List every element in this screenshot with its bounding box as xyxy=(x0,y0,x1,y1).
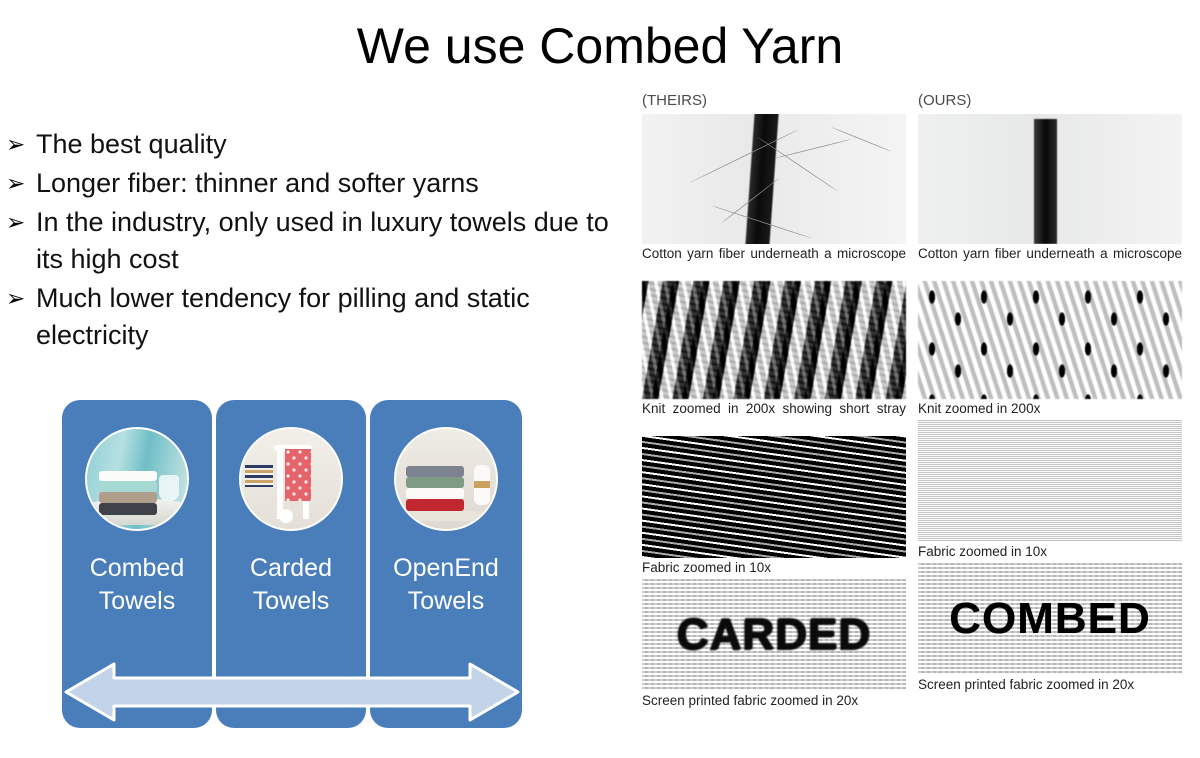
comparison-cell: Knit zoomed in 200x xyxy=(918,281,1182,420)
card-carded-towels[interactable]: Carded Towels xyxy=(216,400,366,728)
printed-word: COMBED xyxy=(949,594,1151,644)
printed-word: CARDED xyxy=(677,610,871,660)
comparison-cell: Knit zoomed in 200x showing short stray xyxy=(642,281,906,436)
list-item-label: The best quality xyxy=(36,126,618,163)
comparison-rows: Cotton yarn fiber underneath a microscop… xyxy=(640,114,1188,754)
card-label: OpenEnd Towels xyxy=(370,552,522,618)
comparison-cell: Cotton yarn fiber underneath a microscop… xyxy=(642,114,906,281)
list-item: ➢ The best quality xyxy=(6,126,618,163)
list-item-label: Much lower tendency for pilling and stat… xyxy=(36,280,618,354)
comparison-column-theirs: Cotton yarn fiber underneath a microscop… xyxy=(642,114,906,712)
comparison-grid: (THEIRS) (OURS) Cotton yarn fiber u xyxy=(640,92,1188,754)
benefits-list: ➢ The best quality ➢ Longer fiber: thinn… xyxy=(6,126,618,356)
comparison-cell: Cotton yarn fiber underneath a microscop… xyxy=(918,114,1182,281)
card-label: Carded Towels xyxy=(216,552,366,618)
comparison-column-ours: Cotton yarn fiber underneath a microscop… xyxy=(918,114,1182,696)
fabric-10x-theirs-image xyxy=(642,436,906,558)
caption: Knit zoomed in 200x xyxy=(918,399,1182,420)
card-combed-towels[interactable]: Combed Towels xyxy=(62,400,212,728)
comparison-column-headings: (THEIRS) (OURS) xyxy=(640,92,1188,114)
caption: Screen printed fabric zoomed in 20x xyxy=(642,691,906,712)
caption: Screen printed fabric zoomed in 20x xyxy=(918,675,1182,696)
column-heading-ours: (OURS) xyxy=(918,92,971,109)
arrow-bullet-icon: ➢ xyxy=(6,126,36,163)
comparison-cell: COMBED Screen printed fabric zoomed in 2… xyxy=(918,563,1182,696)
stacked-towels-shelf-photo xyxy=(394,427,498,531)
comparison-cell: Fabric zoomed in 10x xyxy=(918,420,1182,563)
towel-grade-cards: Combed Towels Carded Towels xyxy=(62,400,522,728)
page-title: We use Combed Yarn xyxy=(0,18,1200,76)
list-item-label: Longer fiber: thinner and softer yarns xyxy=(36,165,618,202)
caption: Cotton yarn fiber underneath a microscop… xyxy=(642,244,906,281)
stacked-towels-teal-photo xyxy=(85,427,189,531)
card-openend-towels[interactable]: OpenEnd Towels xyxy=(370,400,522,728)
cotton-yarn-microscope-theirs-image xyxy=(642,114,906,244)
list-item-label: In the industry, only used in luxury tow… xyxy=(36,204,618,278)
caption: Cotton yarn fiber underneath a microscop… xyxy=(918,244,1182,281)
caption: Fabric zoomed in 10x xyxy=(918,542,1182,563)
slide-root: We use Combed Yarn ➢ The best quality ➢ … xyxy=(0,0,1200,758)
list-item: ➢ Much lower tendency for pilling and st… xyxy=(6,280,618,354)
caption: Fabric zoomed in 10x xyxy=(642,558,906,579)
column-heading-theirs: (THEIRS) xyxy=(642,92,707,109)
fabric-10x-ours-image xyxy=(918,420,1182,542)
list-item: ➢ Longer fiber: thinner and softer yarns xyxy=(6,165,618,202)
arrow-bullet-icon: ➢ xyxy=(6,165,36,202)
screen-printed-20x-ours-image: COMBED xyxy=(918,563,1182,675)
card-label: Combed Towels xyxy=(62,552,212,618)
towel-rack-red-photo xyxy=(239,427,343,531)
knit-200x-ours-image xyxy=(918,281,1182,399)
arrow-bullet-icon: ➢ xyxy=(6,204,36,241)
arrow-bullet-icon: ➢ xyxy=(6,280,36,317)
screen-printed-20x-theirs-image: CARDED xyxy=(642,579,906,691)
caption: Knit zoomed in 200x showing short stray xyxy=(642,399,906,436)
knit-200x-theirs-image xyxy=(642,281,906,399)
comparison-cell: Fabric zoomed in 10x xyxy=(642,436,906,579)
cotton-yarn-microscope-ours-image xyxy=(918,114,1182,244)
comparison-cell: CARDED Screen printed fabric zoomed in 2… xyxy=(642,579,906,712)
list-item: ➢ In the industry, only used in luxury t… xyxy=(6,204,618,278)
